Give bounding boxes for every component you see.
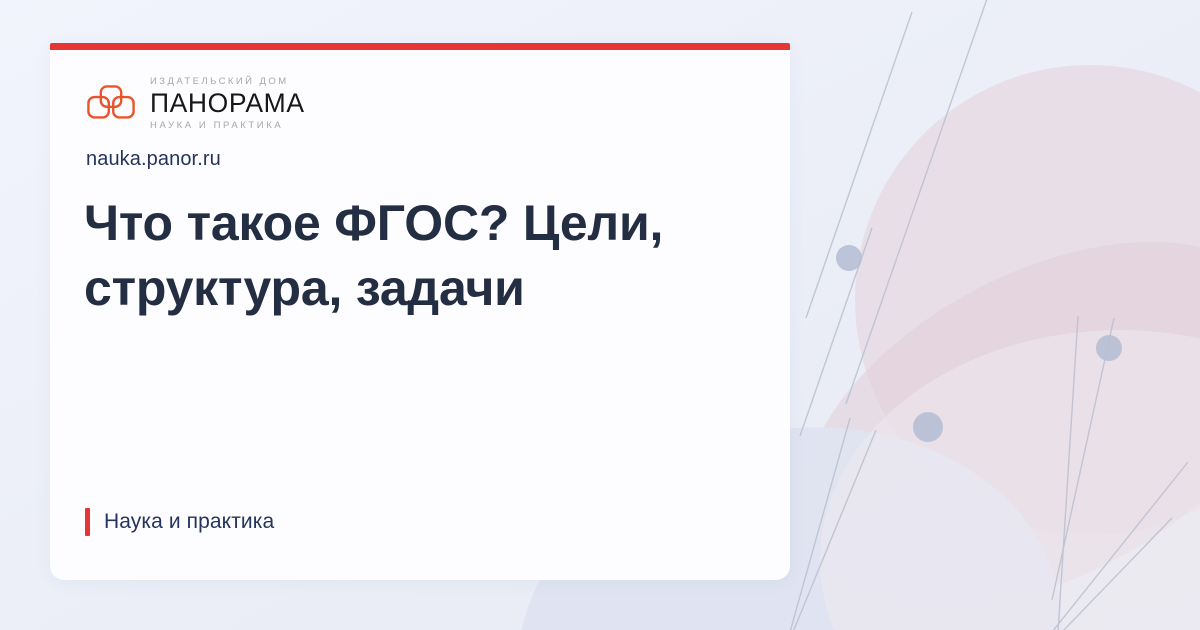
decor-line-7 bbox=[1052, 318, 1114, 600]
decor-line-6 bbox=[1058, 316, 1078, 630]
decor-diagonal-lines bbox=[790, 0, 1188, 630]
decor-pink-ellipse bbox=[740, 166, 1200, 630]
decor-dot-3 bbox=[913, 412, 943, 442]
footer-category[interactable]: Наука и практика bbox=[85, 508, 274, 536]
site-url[interactable]: nauka.panor.ru bbox=[86, 148, 221, 171]
logo-kicker: ИЗДАТЕЛЬСКИЙ ДОМ bbox=[150, 77, 305, 87]
share-card-poster: ИЗДАТЕЛЬСКИЙ ДОМ ПАНОРАМА НАУКА И ПРАКТИ… bbox=[0, 0, 1200, 630]
logo-wordmark-block: ИЗДАТЕЛЬСКИЙ ДОМ ПАНОРАМА НАУКА И ПРАКТИ… bbox=[150, 77, 305, 130]
decor-line-2 bbox=[846, 0, 988, 404]
decor-line-4 bbox=[1052, 462, 1188, 630]
decor-line-1 bbox=[806, 12, 912, 318]
decor-line-5 bbox=[1062, 518, 1172, 630]
panorama-logo-mark bbox=[86, 83, 136, 125]
decor-wash-ellipse bbox=[820, 330, 1200, 630]
card-top-accent-bar bbox=[50, 43, 790, 50]
footer-category-label: Наука и практика bbox=[104, 510, 274, 534]
footer-accent-bar bbox=[85, 508, 90, 536]
logo-tagline: НАУКА И ПРАКТИКА bbox=[150, 121, 305, 131]
decor-line-3 bbox=[800, 228, 872, 436]
decor-dots bbox=[836, 245, 1122, 442]
decor-dot-1 bbox=[836, 245, 862, 271]
content-card: ИЗДАТЕЛЬСКИЙ ДОМ ПАНОРАМА НАУКА И ПРАКТИ… bbox=[50, 43, 790, 580]
decor-dot-2 bbox=[1096, 335, 1122, 361]
logo-name: ПАНОРАМА bbox=[150, 90, 305, 117]
decor-line-9 bbox=[790, 418, 850, 630]
publisher-logo[interactable]: ИЗДАТЕЛЬСКИЙ ДОМ ПАНОРАМА НАУКА И ПРАКТИ… bbox=[86, 77, 305, 130]
decor-line-8 bbox=[793, 430, 876, 630]
article-headline: Что такое ФГОС? Цели, структура, задачи bbox=[84, 191, 790, 321]
decor-pink-circle bbox=[855, 65, 1200, 535]
